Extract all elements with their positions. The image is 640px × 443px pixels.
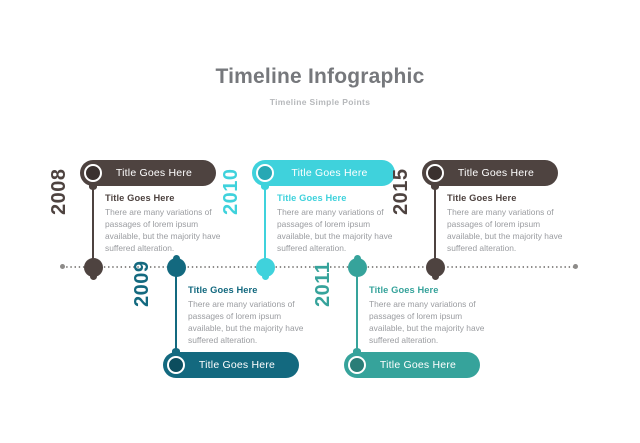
timeline-marker-2009[interactable] (167, 258, 186, 277)
timeline-pill-2010[interactable]: Title Goes Here (252, 160, 395, 186)
timeline-year-2010: 2010 (220, 169, 243, 216)
entry-heading-2008: Title Goes Here (105, 193, 227, 203)
timeline-pill-2015[interactable]: Title Goes Here (422, 160, 558, 186)
timeline-infographic-canvas: Timeline Infographic Timeline Simple Poi… (0, 0, 640, 443)
entry-body-2010: There are many variations of passages of… (277, 206, 399, 254)
pill-nub-2015 (431, 184, 439, 190)
timeline-stem-2009 (175, 267, 177, 352)
timeline-marker-2010[interactable] (256, 258, 275, 277)
timeline-pill-2011[interactable]: Title Goes Here (344, 352, 480, 378)
entry-body-2008: There are many variations of passages of… (105, 206, 227, 254)
entry-heading-2009: Title Goes Here (188, 285, 310, 295)
axis-cap-right-dot (573, 264, 578, 269)
timeline-pill-2008[interactable]: Title Goes Here (80, 160, 216, 186)
timeline-marker-2011[interactable] (348, 258, 367, 277)
timeline-stem-2010 (264, 186, 266, 267)
header: Timeline Infographic Timeline Simple Poi… (0, 64, 640, 107)
timeline-stem-2008 (92, 186, 94, 267)
pill-ring-icon-2011 (348, 356, 366, 374)
entry-body-2011: There are many variations of passages of… (369, 298, 491, 346)
pill-nub-2011 (353, 348, 361, 354)
timeline-year-2011: 2011 (312, 262, 335, 307)
timeline-textblock-2008: Title Goes HereThere are many variations… (105, 193, 227, 254)
timeline-textblock-2010: Title Goes HereThere are many variations… (277, 193, 399, 254)
entry-heading-2015: Title Goes Here (447, 193, 569, 203)
page-title: Timeline Infographic (0, 64, 640, 90)
entry-heading-2010: Title Goes Here (277, 193, 399, 203)
entry-heading-2011: Title Goes Here (369, 285, 491, 295)
pill-ring-icon-2010 (256, 164, 274, 182)
entry-body-2015: There are many variations of passages of… (447, 206, 569, 254)
pill-ring-icon-2008 (84, 164, 102, 182)
timeline-year-2009: 2009 (131, 261, 154, 308)
timeline-textblock-2015: Title Goes HereThere are many variations… (447, 193, 569, 254)
entry-body-2009: There are many variations of passages of… (188, 298, 310, 346)
timeline-year-2015: 2015 (390, 169, 413, 216)
axis-cap-left-dot (60, 264, 65, 269)
pill-nub-2010 (261, 184, 269, 190)
pill-nub-2009 (172, 348, 180, 354)
timeline-stem-2015 (434, 186, 436, 267)
timeline-marker-2015[interactable] (426, 258, 445, 277)
pill-ring-icon-2015 (426, 164, 444, 182)
timeline-stem-2011 (356, 267, 358, 352)
timeline-year-2008: 2008 (48, 169, 71, 216)
pill-nub-2008 (89, 184, 97, 190)
timeline-pill-2009[interactable]: Title Goes Here (163, 352, 299, 378)
timeline-marker-2008[interactable] (84, 258, 103, 277)
timeline-textblock-2009: Title Goes HereThere are many variations… (188, 285, 310, 346)
timeline-textblock-2011: Title Goes HereThere are many variations… (369, 285, 491, 346)
page-subtitle: Timeline Simple Points (0, 97, 640, 107)
pill-ring-icon-2009 (167, 356, 185, 374)
